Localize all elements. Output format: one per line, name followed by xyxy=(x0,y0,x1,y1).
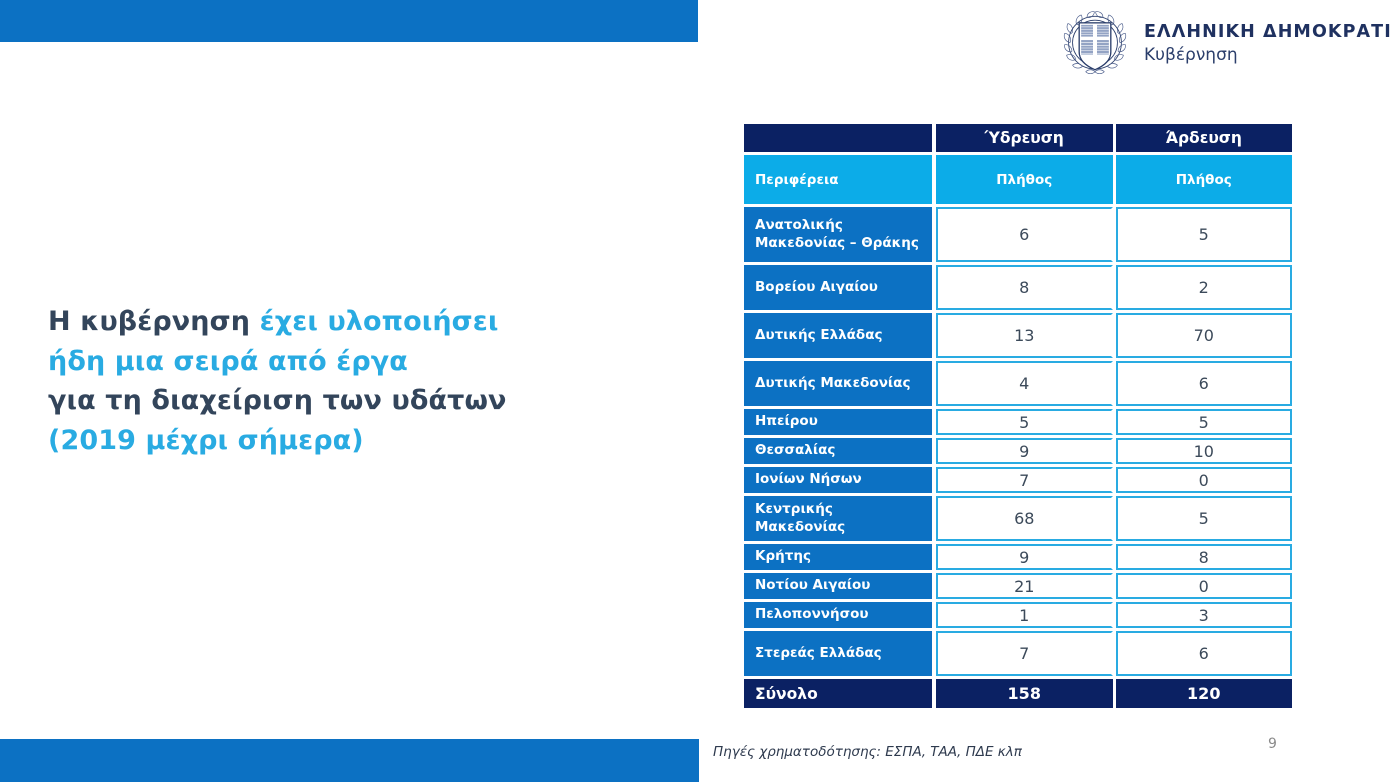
cell-ardefsi: 6 xyxy=(1116,361,1293,406)
cell-region: Ηπείρου xyxy=(744,409,932,435)
slide: ΕΛΛΗΝΙΚΗ ΔΗΜΟΚΡΑΤΙΑ Κυβέρνηση Η κυβέρνησ… xyxy=(0,0,1390,782)
column-header-region: Περιφέρεια xyxy=(744,155,932,204)
total-ydrefsi: 158 xyxy=(936,679,1113,708)
logo-subtitle: Κυβέρνηση xyxy=(1144,46,1390,65)
cell-region: Νοτίου Αιγαίου xyxy=(744,573,932,599)
headline-segment-4: για τη διαχείριση των υδάτων xyxy=(48,385,507,416)
table-total-row: Σύνολο 158 120 xyxy=(744,679,1292,708)
column-header-count-ardefsi: Πλήθος xyxy=(1116,155,1293,204)
table-row: Στερεάς Ελλάδας 7 6 xyxy=(744,631,1292,676)
table-column-header-row: Περιφέρεια Πλήθος Πλήθος xyxy=(744,155,1292,204)
greek-republic-emblem-icon xyxy=(1062,11,1128,77)
logo-title: ΕΛΛΗΝΙΚΗ ΔΗΜΟΚΡΑΤΙΑ xyxy=(1144,23,1390,43)
table-row: Ηπείρου 5 5 xyxy=(744,409,1292,435)
table-row: Νοτίου Αιγαίου 21 0 xyxy=(744,573,1292,599)
cell-region: Θεσσαλίας xyxy=(744,438,932,464)
cell-ydrefsi: 7 xyxy=(936,631,1113,676)
total-label: Σύνολο xyxy=(744,679,932,708)
cell-region: ΑνατολικήςΜακεδονίας – Θράκης xyxy=(744,207,932,262)
cell-ardefsi: 0 xyxy=(1116,467,1293,493)
top-accent-bar xyxy=(0,0,698,42)
page-number: 9 xyxy=(1268,736,1277,752)
organization-logo: ΕΛΛΗΝΙΚΗ ΔΗΜΟΚΡΑΤΙΑ Κυβέρνηση xyxy=(1062,8,1382,80)
table-row: Κρήτης 9 8 xyxy=(744,544,1292,570)
cell-ydrefsi: 4 xyxy=(936,361,1113,406)
table-row: Δυτικής Ελλάδας 13 70 xyxy=(744,313,1292,358)
group-header-ardefsi: Άρδευση xyxy=(1116,124,1293,152)
cell-region: Κεντρικής Μακεδονίας xyxy=(744,496,932,541)
cell-ardefsi: 5 xyxy=(1116,207,1293,262)
cell-ydrefsi: 5 xyxy=(936,409,1113,435)
cell-ardefsi: 5 xyxy=(1116,409,1293,435)
table-row: Βορείου Αιγαίου 8 2 xyxy=(744,265,1292,310)
cell-ydrefsi: 6 xyxy=(936,207,1113,262)
table-row: Κεντρικής Μακεδονίας 68 5 xyxy=(744,496,1292,541)
page-title: Η κυβέρνηση έχει υλοποιήσει ήδη μια σειρ… xyxy=(48,302,608,461)
cell-ydrefsi: 13 xyxy=(936,313,1113,358)
cell-ardefsi: 8 xyxy=(1116,544,1293,570)
cell-ydrefsi: 68 xyxy=(936,496,1113,541)
table-row: Ιονίων Νήσων 7 0 xyxy=(744,467,1292,493)
cell-ardefsi: 10 xyxy=(1116,438,1293,464)
logo-text: ΕΛΛΗΝΙΚΗ ΔΗΜΟΚΡΑΤΙΑ Κυβέρνηση xyxy=(1144,23,1390,65)
table-row: ΑνατολικήςΜακεδονίας – Θράκης 6 5 xyxy=(744,207,1292,262)
headline-segment-2: έχει υλοποιήσει xyxy=(260,306,499,337)
cell-ardefsi: 3 xyxy=(1116,602,1293,628)
cell-ardefsi: 5 xyxy=(1116,496,1293,541)
cell-region: Βορείου Αιγαίου xyxy=(744,265,932,310)
cell-ydrefsi: 9 xyxy=(936,438,1113,464)
region-line-1: Ανατολικής xyxy=(755,217,843,233)
cell-ydrefsi: 21 xyxy=(936,573,1113,599)
region-line-2: Μακεδονίας – Θράκης xyxy=(755,235,919,251)
group-header-ydrefsi: Ύδρευση xyxy=(936,124,1113,152)
cell-region: Ιονίων Νήσων xyxy=(744,467,932,493)
cell-ydrefsi: 9 xyxy=(936,544,1113,570)
cell-region: Κρήτης xyxy=(744,544,932,570)
group-header-blank xyxy=(744,124,932,152)
cell-ydrefsi: 7 xyxy=(936,467,1113,493)
cell-region: Στερεάς Ελλάδας xyxy=(744,631,932,676)
headline-segment-1: Η κυβέρνηση xyxy=(48,306,260,337)
total-ardefsi: 120 xyxy=(1116,679,1293,708)
headline-segment-5: (2019 μέχρι σήμερα) xyxy=(48,425,364,456)
table-group-header-row: Ύδρευση Άρδευση xyxy=(744,124,1292,152)
table-row: Πελοποννήσου 1 3 xyxy=(744,602,1292,628)
cell-ardefsi: 6 xyxy=(1116,631,1293,676)
table-row: Δυτικής Μακεδονίας 4 6 xyxy=(744,361,1292,406)
cell-ardefsi: 0 xyxy=(1116,573,1293,599)
headline-segment-3: ήδη μια σειρά από έργα xyxy=(48,346,408,377)
cell-region: Δυτικής Ελλάδας xyxy=(744,313,932,358)
cell-ardefsi: 70 xyxy=(1116,313,1293,358)
water-projects-table: Ύδρευση Άρδευση Περιφέρεια Πλήθος Πλήθος… xyxy=(744,124,1292,708)
cell-region: Δυτικής Μακεδονίας xyxy=(744,361,932,406)
cell-ydrefsi: 1 xyxy=(936,602,1113,628)
funding-sources-note: Πηγές χρηματοδότησης: ΕΣΠΑ, ΤΑΑ, ΠΔΕ κλπ xyxy=(713,744,1022,760)
cell-ydrefsi: 8 xyxy=(936,265,1113,310)
cell-ardefsi: 2 xyxy=(1116,265,1293,310)
cell-region: Πελοποννήσου xyxy=(744,602,932,628)
bottom-accent-bar xyxy=(0,739,699,782)
column-header-count-ydrefsi: Πλήθος xyxy=(936,155,1113,204)
table-row: Θεσσαλίας 9 10 xyxy=(744,438,1292,464)
